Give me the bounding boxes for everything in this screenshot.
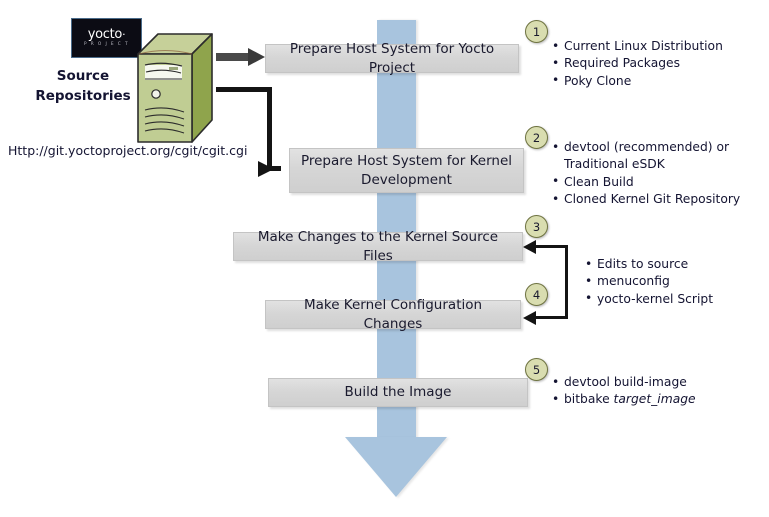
list-item: Cloned Kernel Git Repository (552, 191, 740, 208)
step-number-3: 3 (525, 215, 548, 238)
step-5-bullet-list: devtool build-image bitbake target_image (552, 374, 696, 409)
list-item: Required Packages (552, 55, 723, 72)
step-2-bullet-list: devtool (recommended) or Traditional eSD… (552, 139, 740, 209)
steps-3-4-bullet-list: Edits to source menuconfig yocto-kernel … (585, 256, 713, 308)
source-repository-url: Http://git.yoctoproject.org/cgit/cgit.cg… (8, 143, 247, 158)
step-number-5: 5 (525, 358, 548, 381)
list-item-line1: devtool (recommended) or (564, 140, 729, 154)
logo-word-text: yocto (88, 27, 122, 42)
list-item: devtool build-image (552, 374, 696, 391)
list-item: Poky Clone (552, 73, 723, 90)
step-number-1: 1 (525, 20, 548, 43)
source-repositories-label: Source Repositories (30, 66, 136, 107)
step-box-kernel-config-changes[interactable]: Make Kernel Configuration Changes (265, 300, 521, 329)
connector-server-to-step2-arrowhead (258, 161, 274, 177)
connector-server-to-step2-segment-v (267, 87, 272, 170)
list-item: Clean Build (552, 174, 740, 191)
logo-subtitle: P R O J E C T (84, 43, 129, 47)
list-item: menuconfig (585, 273, 713, 290)
connector-bracket-to-step4 (531, 316, 567, 319)
flow-arrow-head (345, 437, 447, 497)
connector-server-to-step1-arrowhead (248, 48, 265, 66)
connector-server-to-step2-segment-h1 (216, 87, 272, 92)
list-item-line2: Traditional eSDK (564, 156, 740, 173)
step-box-make-changes-source[interactable]: Make Changes to the Kernel Source Files (233, 232, 523, 261)
connector-bracket-step3-arrowhead (523, 240, 536, 254)
bitbake-command: bitbake (564, 392, 614, 406)
step-box-2-line1: Prepare Host System for Kernel (301, 153, 512, 169)
list-item: yocto-kernel Script (585, 291, 713, 308)
connector-bracket-to-step3 (531, 245, 567, 248)
step-box-build-image[interactable]: Build the Image (268, 378, 528, 407)
list-item: Edits to source (585, 256, 713, 273)
diagram-canvas: yocto· P R O J E C T Source Repositories… (0, 0, 769, 517)
logo-dot: · (122, 28, 125, 41)
step-number-4: 4 (525, 283, 548, 306)
step-box-prepare-host-yocto[interactable]: Prepare Host System for Yocto Project (265, 44, 519, 73)
step-box-2-text: Prepare Host System for Kernel Developme… (301, 152, 512, 188)
step-number-2: 2 (525, 126, 548, 149)
list-item: bitbake target_image (552, 391, 696, 408)
server-tower-icon (136, 32, 214, 144)
connector-bracket-vertical (565, 245, 568, 319)
source-label-line2: Repositories (35, 88, 130, 104)
logo-wordmark: yocto· (88, 28, 126, 41)
list-item: Current Linux Distribution (552, 38, 723, 55)
source-label-line1: Source (57, 68, 109, 84)
step-box-prepare-host-kernel[interactable]: Prepare Host System for Kernel Developme… (289, 148, 524, 193)
connector-bracket-step4-arrowhead (523, 311, 536, 325)
step-box-2-line2: Development (361, 172, 452, 188)
bitbake-target-arg: target_image (614, 392, 696, 406)
step-1-bullet-list: Current Linux Distribution Required Pack… (552, 38, 723, 90)
list-item: devtool (recommended) or Traditional eSD… (552, 139, 740, 174)
yocto-project-logo: yocto· P R O J E C T (71, 18, 142, 58)
